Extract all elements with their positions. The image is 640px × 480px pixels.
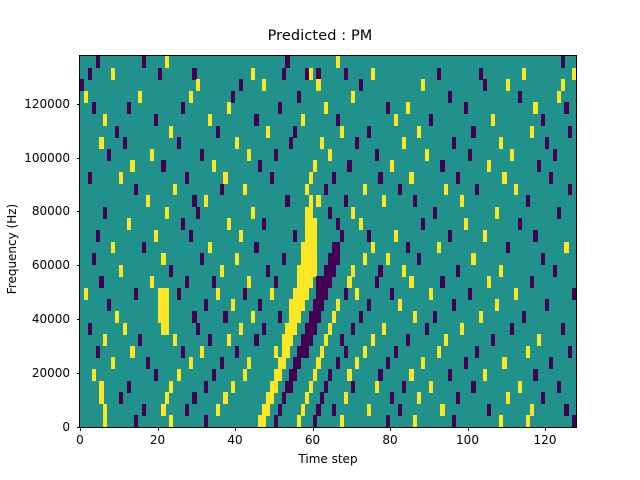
heatmap-cell — [359, 311, 363, 323]
heatmap-cell — [293, 369, 297, 381]
heatmap-cell — [564, 404, 568, 416]
heatmap-cell — [297, 357, 301, 369]
heatmap-cell — [386, 102, 390, 114]
heatmap-cell — [80, 79, 84, 91]
heatmap-cell — [88, 323, 92, 335]
heatmap-cell — [216, 126, 220, 138]
y-tick-mark — [77, 158, 81, 159]
heatmap-cell — [262, 218, 266, 230]
heatmap-cell — [243, 288, 247, 300]
heatmap-cell — [533, 230, 537, 242]
heatmap-cell — [347, 369, 351, 381]
heatmap-cell — [468, 288, 472, 300]
heatmap-cell — [437, 68, 441, 80]
heatmap-cell — [227, 334, 231, 346]
heatmap-cell — [537, 334, 541, 346]
heatmap-cell — [545, 299, 549, 311]
heatmap-cell — [243, 184, 247, 196]
heatmap-cell — [165, 392, 169, 404]
heatmap-cell — [96, 346, 100, 358]
heatmap-cell — [406, 334, 410, 346]
heatmap-cell — [320, 137, 324, 149]
heatmap-cell — [336, 299, 340, 311]
heatmap-cell — [200, 253, 204, 265]
heatmap-cell — [572, 68, 576, 80]
heatmap-cell — [487, 276, 491, 288]
heatmap-cell — [235, 346, 239, 358]
heatmap-cell — [313, 253, 317, 265]
heatmap-cell — [138, 91, 142, 103]
heatmap-cell — [99, 392, 103, 404]
heatmap-cell — [316, 68, 320, 80]
heatmap-cell — [371, 334, 375, 346]
heatmap-cell — [518, 91, 522, 103]
heatmap-cell — [258, 299, 262, 311]
heatmap-cell — [301, 404, 305, 416]
heatmap-cell — [324, 381, 328, 393]
heatmap-cell — [421, 218, 425, 230]
heatmap-cell — [464, 102, 468, 114]
heatmap-cell — [336, 357, 340, 369]
heatmap-cell — [429, 381, 433, 393]
heatmap-cell — [247, 357, 251, 369]
heatmap-cell — [208, 334, 212, 346]
heatmap-cell — [92, 369, 96, 381]
heatmap-cell — [216, 288, 220, 300]
heatmap-cell — [526, 346, 530, 358]
heatmap-cell — [274, 346, 278, 358]
heatmap-cell — [185, 404, 189, 416]
heatmap-cell — [324, 102, 328, 114]
heatmap-cell — [386, 415, 390, 427]
heatmap-cell — [328, 323, 332, 335]
heatmap-cell — [533, 369, 537, 381]
x-tick-mark — [545, 427, 546, 431]
heatmap-cell — [468, 149, 472, 161]
heatmap-cell — [270, 172, 274, 184]
heatmap-cell — [181, 102, 185, 114]
heatmap-grid — [80, 56, 576, 427]
heatmap-cell — [382, 323, 386, 335]
heatmap-cell — [561, 56, 565, 68]
heatmap-cell — [270, 392, 274, 404]
heatmap-cell — [378, 172, 382, 184]
heatmap-cell — [421, 357, 425, 369]
y-tick-mark — [77, 104, 81, 105]
heatmap-cell — [274, 415, 278, 427]
heatmap-cell — [413, 195, 417, 207]
heatmap-cell — [320, 392, 324, 404]
heatmap-cell — [161, 253, 165, 265]
heatmap-cell — [289, 137, 293, 149]
heatmap-cell — [471, 381, 475, 393]
heatmap-cell — [464, 218, 468, 230]
heatmap-cell — [169, 265, 173, 277]
heatmap-cell — [491, 334, 495, 346]
heatmap-cell — [448, 369, 452, 381]
heatmap-cell — [115, 126, 119, 138]
heatmap-cell — [344, 392, 348, 404]
heatmap-cell — [165, 323, 169, 335]
heatmap-cell — [487, 160, 491, 172]
heatmap-cell — [173, 334, 177, 346]
heatmap-cell — [192, 195, 196, 207]
heatmap-cell — [413, 415, 417, 427]
heatmap-cell — [297, 311, 301, 323]
heatmap-cell — [378, 265, 382, 277]
heatmap-cell — [107, 299, 111, 311]
heatmap-cell — [227, 218, 231, 230]
heatmap-cell — [530, 126, 534, 138]
heatmap-cell — [142, 242, 146, 254]
heatmap-cell — [429, 288, 433, 300]
x-axis-label: Time step — [80, 452, 576, 466]
heatmap-cell — [103, 415, 107, 427]
heatmap-cell — [88, 68, 92, 80]
heatmap-cell — [336, 253, 340, 265]
heatmap-cell — [134, 184, 138, 196]
heatmap-cell — [541, 392, 545, 404]
heatmap-plot-area — [79, 55, 577, 428]
heatmap-cell — [375, 276, 379, 288]
heatmap-cell — [313, 218, 317, 230]
heatmap-cell — [134, 415, 138, 427]
heatmap-cell — [526, 195, 530, 207]
heatmap-cell — [406, 102, 410, 114]
heatmap-cell — [266, 265, 270, 277]
heatmap-cell — [464, 357, 468, 369]
heatmap-cell — [243, 369, 247, 381]
heatmap-cell — [92, 102, 96, 114]
heatmap-cell — [316, 404, 320, 416]
heatmap-cell — [293, 126, 297, 138]
heatmap-cell — [456, 265, 460, 277]
heatmap-cell — [282, 68, 286, 80]
heatmap-cell — [367, 404, 371, 416]
heatmap-cell — [359, 218, 363, 230]
heatmap-cell — [429, 114, 433, 126]
heatmap-cell — [336, 242, 340, 254]
heatmap-cell — [518, 218, 522, 230]
heatmap-cell — [189, 230, 193, 242]
heatmap-cell — [460, 195, 464, 207]
heatmap-cell — [204, 381, 208, 393]
heatmap-cell — [309, 68, 313, 80]
heatmap-cell — [297, 415, 301, 427]
heatmap-cell — [251, 207, 255, 219]
heatmap-cell — [336, 56, 340, 68]
heatmap-cell — [165, 311, 169, 323]
heatmap-cell — [212, 276, 216, 288]
heatmap-cell — [406, 242, 410, 254]
heatmap-cell — [316, 311, 320, 323]
heatmap-cell — [475, 346, 479, 358]
heatmap-cell — [262, 323, 266, 335]
heatmap-cell — [305, 392, 309, 404]
heatmap-cell — [351, 207, 355, 219]
heatmap-cell — [313, 369, 317, 381]
heatmap-cell — [499, 265, 503, 277]
heatmap-cell — [111, 242, 115, 254]
heatmap-cell — [332, 172, 336, 184]
heatmap-cell — [235, 137, 239, 149]
y-tick-mark — [77, 211, 81, 212]
heatmap-cell — [502, 357, 506, 369]
heatmap-cell — [351, 381, 355, 393]
heatmap-cell — [200, 346, 204, 358]
heatmap-cell — [402, 137, 406, 149]
heatmap-cell — [161, 404, 165, 416]
heatmap-cell — [398, 184, 402, 196]
heatmap-cell — [111, 357, 115, 369]
heatmap-cell — [146, 357, 150, 369]
heatmap-cell — [499, 137, 503, 149]
heatmap-cell — [483, 369, 487, 381]
heatmap-cell — [522, 311, 526, 323]
heatmap-cell — [274, 276, 278, 288]
heatmap-cell — [367, 230, 371, 242]
heatmap-cell — [282, 392, 286, 404]
heatmap-cell — [483, 79, 487, 91]
heatmap-cell — [227, 102, 231, 114]
heatmap-cell — [340, 230, 344, 242]
heatmap-cell — [274, 381, 278, 393]
heatmap-cell — [452, 415, 456, 427]
heatmap-cell — [499, 415, 503, 427]
heatmap-cell — [316, 195, 320, 207]
heatmap-cell — [127, 381, 131, 393]
heatmap-cell — [285, 56, 289, 68]
heatmap-cell — [417, 392, 421, 404]
heatmap-cell — [344, 288, 348, 300]
heatmap-cell — [417, 253, 421, 265]
heatmap-cell — [553, 149, 557, 161]
heatmap-cell — [553, 265, 557, 277]
x-tick-label: 120 — [534, 433, 557, 447]
heatmap-cell — [425, 149, 429, 161]
heatmap-cell — [99, 137, 103, 149]
heatmap-cell — [154, 230, 158, 242]
heatmap-cell — [530, 276, 534, 288]
heatmap-cell — [506, 392, 510, 404]
heatmap-cell — [444, 184, 448, 196]
heatmap-cell — [99, 276, 103, 288]
heatmap-cell — [165, 288, 169, 300]
heatmap-cell — [177, 137, 181, 149]
heatmap-cell — [103, 207, 107, 219]
heatmap-cell — [568, 184, 572, 196]
heatmap-cell — [84, 288, 88, 300]
heatmap-cell — [96, 56, 100, 68]
heatmap-cell — [351, 265, 355, 277]
heatmap-cell — [220, 184, 224, 196]
heatmap-cell — [371, 242, 375, 254]
heatmap-cell — [328, 276, 332, 288]
matplotlib-figure: Predicted : PM 020406080100120 020000400… — [0, 0, 640, 480]
heatmap-cell — [344, 346, 348, 358]
heatmap-cell — [313, 242, 317, 254]
heatmap-cell — [309, 207, 313, 219]
heatmap-cell — [254, 242, 258, 254]
heatmap-cell — [344, 68, 348, 80]
heatmap-cell — [282, 253, 286, 265]
heatmap-cell — [239, 79, 243, 91]
heatmap-cell — [371, 68, 375, 80]
heatmap-cell — [138, 334, 142, 346]
heatmap-cell — [456, 392, 460, 404]
heatmap-cell — [313, 323, 317, 335]
heatmap-cell — [266, 404, 270, 416]
heatmap-cell — [363, 184, 367, 196]
heatmap-cell — [258, 160, 262, 172]
heatmap-cell — [549, 172, 553, 184]
heatmap-cell — [274, 149, 278, 161]
heatmap-cell — [309, 195, 313, 207]
heatmap-cell — [185, 172, 189, 184]
heatmap-cell — [440, 160, 444, 172]
heatmap-cell — [375, 149, 379, 161]
heatmap-cell — [561, 323, 565, 335]
heatmap-cell — [351, 323, 355, 335]
heatmap-cell — [378, 369, 382, 381]
heatmap-cell — [398, 404, 402, 416]
y-tick-mark — [77, 265, 81, 266]
heatmap-cell — [134, 288, 138, 300]
y-axis-label: Frequency (Hz) — [5, 129, 19, 369]
heatmap-cell — [254, 114, 258, 126]
x-tick-label: 0 — [76, 433, 84, 447]
heatmap-cell — [119, 265, 123, 277]
heatmap-cell — [169, 126, 173, 138]
heatmap-cell — [223, 392, 227, 404]
heatmap-cell — [510, 323, 514, 335]
heatmap-cell — [363, 253, 367, 265]
heatmap-cell — [313, 415, 317, 427]
heatmap-cell — [557, 381, 561, 393]
heatmap-cell — [518, 381, 522, 393]
heatmap-cell — [549, 357, 553, 369]
heatmap-cell — [522, 68, 526, 80]
heatmap-cell — [564, 102, 568, 114]
heatmap-cell — [336, 114, 340, 126]
heatmap-cell — [88, 172, 92, 184]
heatmap-cell — [514, 288, 518, 300]
heatmap-cell — [212, 369, 216, 381]
heatmap-cell — [92, 253, 96, 265]
heatmap-cell — [223, 172, 227, 184]
heatmap-cell — [320, 299, 324, 311]
heatmap-cell — [231, 91, 235, 103]
heatmap-cell — [173, 184, 177, 196]
heatmap-cell — [506, 79, 510, 91]
heatmap-cell — [127, 218, 131, 230]
heatmap-cell — [355, 288, 359, 300]
heatmap-cell — [247, 149, 251, 161]
heatmap-cell — [297, 91, 301, 103]
heatmap-cell — [433, 311, 437, 323]
chart-title: Predicted : PM — [0, 28, 640, 44]
heatmap-cell — [239, 323, 243, 335]
heatmap-cell — [247, 276, 251, 288]
heatmap-cell — [324, 288, 328, 300]
heatmap-cell — [305, 184, 309, 196]
heatmap-cell — [142, 56, 146, 68]
heatmap-cell — [150, 276, 154, 288]
heatmap-cell — [386, 357, 390, 369]
heatmap-cell — [266, 126, 270, 138]
heatmap-cell — [289, 334, 293, 346]
x-tick-mark — [390, 427, 391, 431]
heatmap-cell — [452, 299, 456, 311]
heatmap-cell — [154, 114, 158, 126]
heatmap-cell — [390, 288, 394, 300]
heatmap-cell — [278, 311, 282, 323]
heatmap-cell — [192, 68, 196, 80]
heatmap-cell — [309, 381, 313, 393]
heatmap-cell — [332, 265, 336, 277]
heatmap-cell — [324, 334, 328, 346]
x-tick-label: 80 — [382, 433, 397, 447]
heatmap-cell — [293, 230, 297, 242]
heatmap-cell — [514, 184, 518, 196]
heatmap-cell — [568, 346, 572, 358]
heatmap-cell — [390, 392, 394, 404]
heatmap-cell — [204, 195, 208, 207]
heatmap-cell — [204, 415, 208, 427]
heatmap-cell — [355, 357, 359, 369]
heatmap-cell — [336, 218, 340, 230]
heatmap-cell — [452, 137, 456, 149]
heatmap-cell — [293, 323, 297, 335]
heatmap-cell — [169, 415, 173, 427]
heatmap-cell — [123, 323, 127, 335]
heatmap-cell — [394, 114, 398, 126]
x-tick-label: 20 — [150, 433, 165, 447]
heatmap-cell — [99, 381, 103, 393]
heatmap-cell — [394, 230, 398, 242]
heatmap-cell — [355, 137, 359, 149]
heatmap-cell — [165, 207, 169, 219]
heatmap-cell — [181, 346, 185, 358]
heatmap-cell — [340, 126, 344, 138]
heatmap-cell — [394, 346, 398, 358]
heatmap-cell — [150, 149, 154, 161]
heatmap-cell — [437, 346, 441, 358]
heatmap-cell — [409, 172, 413, 184]
heatmap-cell — [448, 91, 452, 103]
heatmap-cell — [285, 195, 289, 207]
heatmap-cell — [324, 184, 328, 196]
x-tick-label: 100 — [456, 433, 479, 447]
heatmap-cell — [471, 253, 475, 265]
heatmap-cell — [530, 404, 534, 416]
heatmap-cell — [316, 79, 320, 91]
heatmap-cell — [448, 230, 452, 242]
heatmap-cell — [487, 404, 491, 416]
heatmap-cell — [154, 369, 158, 381]
heatmap-cell — [398, 299, 402, 311]
heatmap-cell — [471, 126, 475, 138]
heatmap-cell — [344, 195, 348, 207]
y-tick-mark — [77, 319, 81, 320]
heatmap-cell — [572, 288, 576, 300]
heatmap-cell — [305, 346, 309, 358]
heatmap-cell — [103, 114, 107, 126]
heatmap-cell — [382, 195, 386, 207]
heatmap-cell — [425, 323, 429, 335]
heatmap-cell — [421, 79, 425, 91]
heatmap-cell — [231, 381, 235, 393]
